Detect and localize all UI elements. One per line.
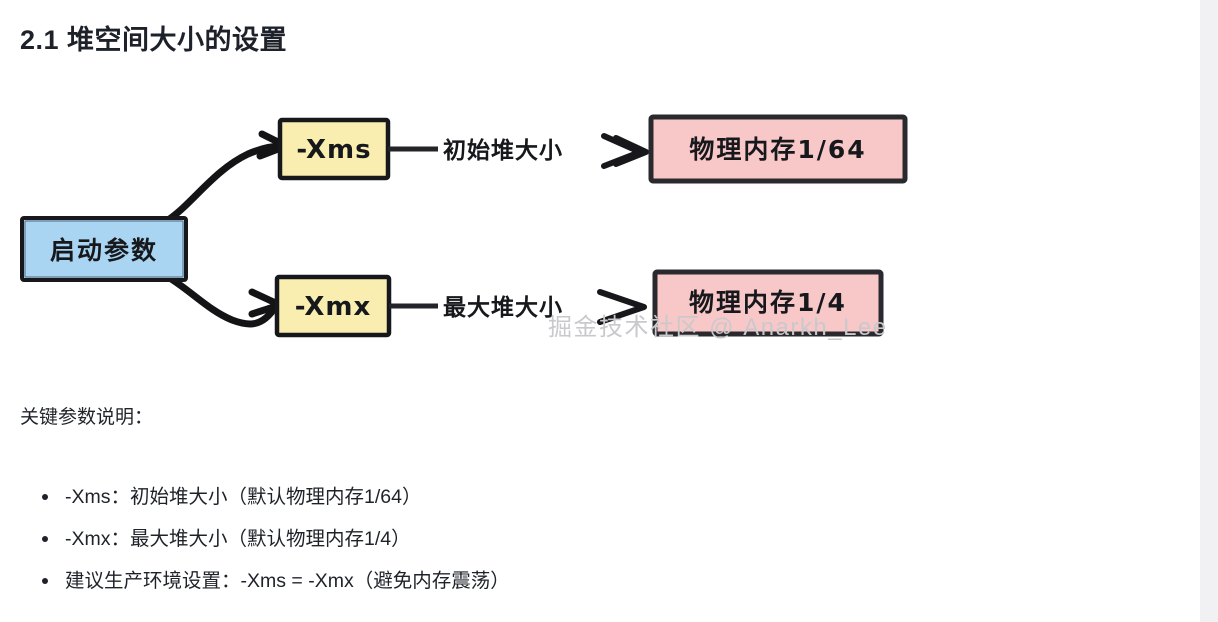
node-startup-params[interactable]: 启动参数 <box>22 218 186 280</box>
arrow-root-to-xms <box>168 134 286 220</box>
watermark: 掘金技术社区 @ Anarkh_Lee <box>548 314 888 341</box>
list-item-text: -Xms：初始堆大小（默认物理内存1/64） <box>65 486 421 508</box>
list-item: -Xms：初始堆大小（默认物理内存1/64） <box>20 476 1120 518</box>
node-physical-memory-1-4-label: 物理内存1/4 <box>689 288 847 317</box>
edge-label-max-heap: 最大堆大小 <box>443 295 563 321</box>
key-params-list: -Xms：初始堆大小（默认物理内存1/64） -Xmx：最大堆大小（默认物理内存… <box>20 476 1120 602</box>
bullet-dot-icon <box>42 494 48 500</box>
node-startup-params-label: 启动参数 <box>50 236 158 265</box>
key-params-lead: 关键参数说明： <box>20 404 153 432</box>
list-item: -Xmx：最大堆大小（默认物理内存1/4） <box>20 518 1120 560</box>
document-content: 2.1 堆空间大小的设置 启动参数 -Xms <box>0 0 1200 622</box>
list-item-text: 建议生产环境设置：-Xms = -Xmx（避免内存震荡） <box>65 570 510 592</box>
node-xmx-label: -Xmx <box>295 292 372 322</box>
arrow-root-to-xmx <box>168 277 280 324</box>
heap-size-flowchart: 启动参数 -Xms -Xmx 物理内存1/64 ============ -->… <box>0 92 960 372</box>
list-item-text: -Xmx：最大堆大小（默认物理内存1/4） <box>65 528 411 550</box>
bullet-dot-icon <box>42 536 48 542</box>
node-xms[interactable]: -Xms <box>280 120 388 178</box>
edge-label-initial-heap: 初始堆大小 <box>443 137 563 164</box>
node-physical-memory-1-64[interactable]: 物理内存1/64 <box>651 117 905 181</box>
node-xmx[interactable]: -Xmx <box>277 277 389 335</box>
node-xms-label: -Xms <box>296 135 371 165</box>
page-scrollbar-track[interactable] <box>1200 0 1218 622</box>
bullet-dot-icon <box>42 578 48 584</box>
node-physical-memory-1-64-label: 物理内存1/64 <box>689 135 866 164</box>
edge-xms-to-initial-heap: 初始堆大小 <box>388 136 646 166</box>
page-title: 2.1 堆空间大小的设置 <box>20 18 287 57</box>
list-item: 建议生产环境设置：-Xms = -Xmx（避免内存震荡） <box>20 560 1120 602</box>
